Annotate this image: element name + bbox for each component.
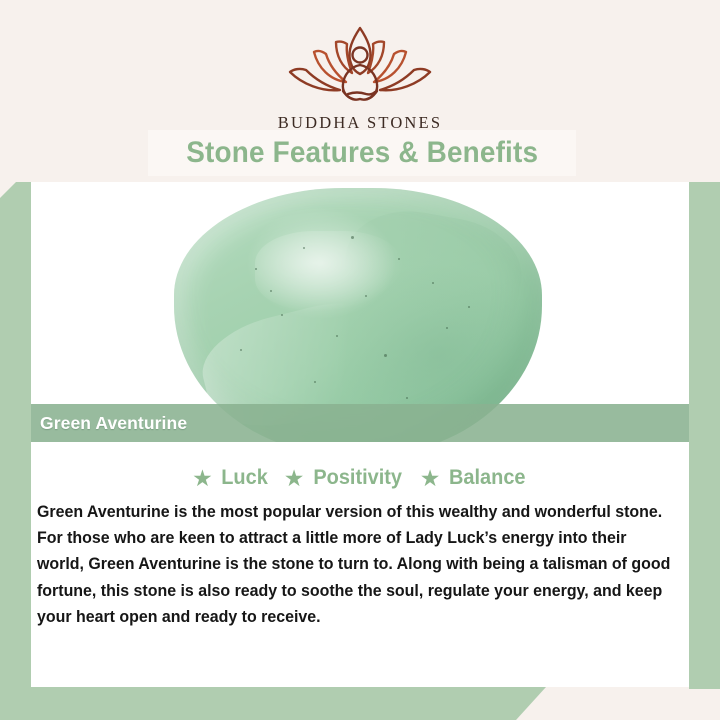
keyword-label: Positivity	[314, 466, 403, 490]
stone-name-label: Green Aventurine	[40, 413, 187, 434]
star-icon: ★	[420, 467, 441, 490]
brand-logo: BUDDHA STONES	[0, 22, 720, 133]
stone-description: Green Aventurine is the most popular ver…	[37, 499, 673, 630]
accent-bar-left	[0, 182, 31, 692]
accent-bar-bottom	[0, 687, 546, 720]
stone-top-highlight	[255, 231, 402, 311]
keyword-item-positivity: ★ Positivity	[284, 466, 405, 490]
stone-photo	[31, 182, 689, 442]
stone-facet-shadow	[333, 200, 529, 357]
stone-info-section: ★ Luck ★ Positivity ★ Balance Green Aven…	[31, 442, 689, 687]
keyword-list: ★ Luck ★ Positivity ★ Balance	[31, 442, 689, 490]
keyword-label: Luck	[221, 466, 268, 490]
section-title-banner: Stone Features & Benefits	[148, 130, 576, 176]
star-icon: ★	[192, 467, 213, 490]
keyword-item-balance: ★ Balance	[420, 466, 528, 490]
infographic-page: BUDDHA STONES Stone Features & Bene	[0, 0, 720, 720]
lotus-meditation-icon	[0, 22, 720, 111]
page-title: Stone Features & Benefits	[186, 136, 538, 170]
keyword-item-luck: ★ Luck	[192, 466, 269, 490]
stone-label-band: Green Aventurine	[31, 404, 689, 442]
keyword-label: Balance	[449, 466, 526, 490]
star-icon: ★	[284, 467, 305, 490]
